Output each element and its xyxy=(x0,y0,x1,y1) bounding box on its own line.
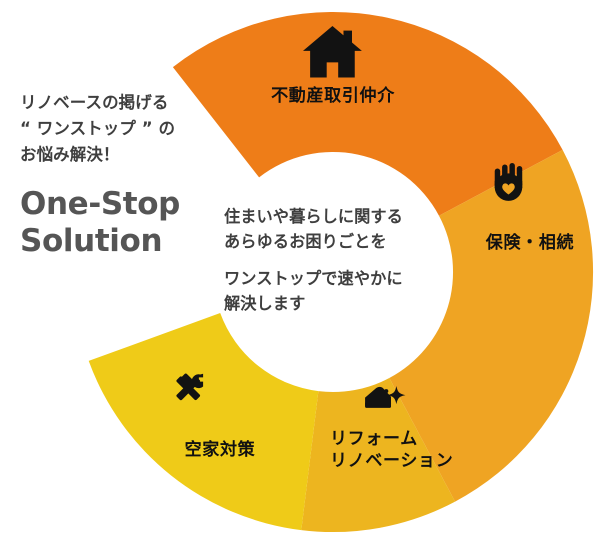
center-text-block: 住まいや暮らしに関する あらゆるお困りごとを ワンストップで速やかに 解決します xyxy=(224,205,459,317)
segment-label-vacant-house: 空家対策 xyxy=(155,440,285,462)
brand-title: One-Stop Solution xyxy=(20,186,235,259)
center-paragraph-2: ワンストップで速やかに 解決します xyxy=(224,267,459,316)
lead-copy: リノベースの掲げる “ ワンストップ ” の お悩み解決！ xyxy=(20,90,235,168)
segment-label-insurance: 保険・相続 xyxy=(466,233,594,255)
segment-label-reform: リフォーム リノベーション xyxy=(330,429,506,473)
center-paragraph-1: 住まいや暮らしに関する あらゆるお困りごとを xyxy=(224,205,459,254)
segment-label-real-estate: 不動産取引仲介 xyxy=(233,86,433,108)
segment-vacant-house[interactable] xyxy=(89,313,319,530)
left-text-block: リノベースの掲げる “ ワンストップ ” の お悩み解決！ One-Stop S… xyxy=(20,90,235,259)
